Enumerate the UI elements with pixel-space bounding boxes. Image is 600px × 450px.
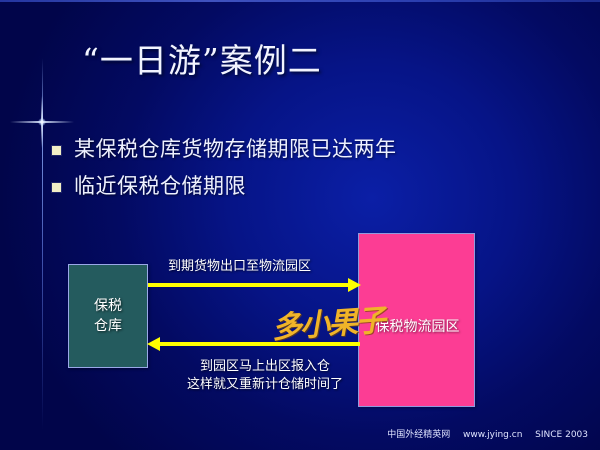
top-divider (0, 0, 600, 2)
bullet-text: 临近保税仓储期限 (74, 171, 246, 201)
footer: 中国外经精英网 www.jying.cn SINCE 2003 (0, 429, 600, 441)
arrow-head-left-icon (147, 337, 160, 351)
footer-site-name: 中国外经精英网 (387, 430, 450, 440)
bullet-square-icon (52, 146, 61, 155)
arrow-bottom-label: 到园区马上出区报入仓 这样就又重新计仓储时间了 (150, 358, 380, 394)
slide-canvas: “一日游”案例二 某保税仓库货物存储期限已达两年 临近保税仓储期限 保税 仓库 … (0, 0, 600, 450)
arrow-bottom-label-line1: 到园区马上出区报入仓 (150, 358, 380, 376)
footer-url: www.jying.cn (463, 430, 522, 440)
bonded-warehouse-label-line2: 仓库 (94, 316, 122, 336)
bullet-square-icon (52, 183, 61, 192)
list-item: 某保税仓库货物存储期限已达两年 (52, 134, 572, 164)
arrow-shaft (158, 342, 360, 346)
arrow-bottom-label-line2: 这样就又重新计仓储时间了 (150, 376, 380, 394)
list-item: 临近保税仓储期限 (52, 171, 572, 201)
page-title: “一日游”案例二 (82, 40, 562, 82)
bonded-logistics-park-label: 保税物流园区 (359, 317, 476, 337)
bullet-text: 某保税仓库货物存储期限已达两年 (74, 134, 397, 164)
bullet-list: 某保税仓库货物存储期限已达两年 临近保税仓储期限 (52, 134, 572, 208)
bonded-warehouse-label-line1: 保税 (94, 296, 122, 316)
footer-since: SINCE 2003 (535, 430, 588, 440)
arrow-head-right-icon (348, 278, 361, 292)
bonded-warehouse-box: 保税 仓库 (68, 264, 148, 368)
arrow-shaft (148, 283, 350, 287)
bonded-warehouse-label: 保税 仓库 (94, 296, 122, 336)
arrow-top-label: 到期货物出口至物流园区 (168, 258, 368, 276)
